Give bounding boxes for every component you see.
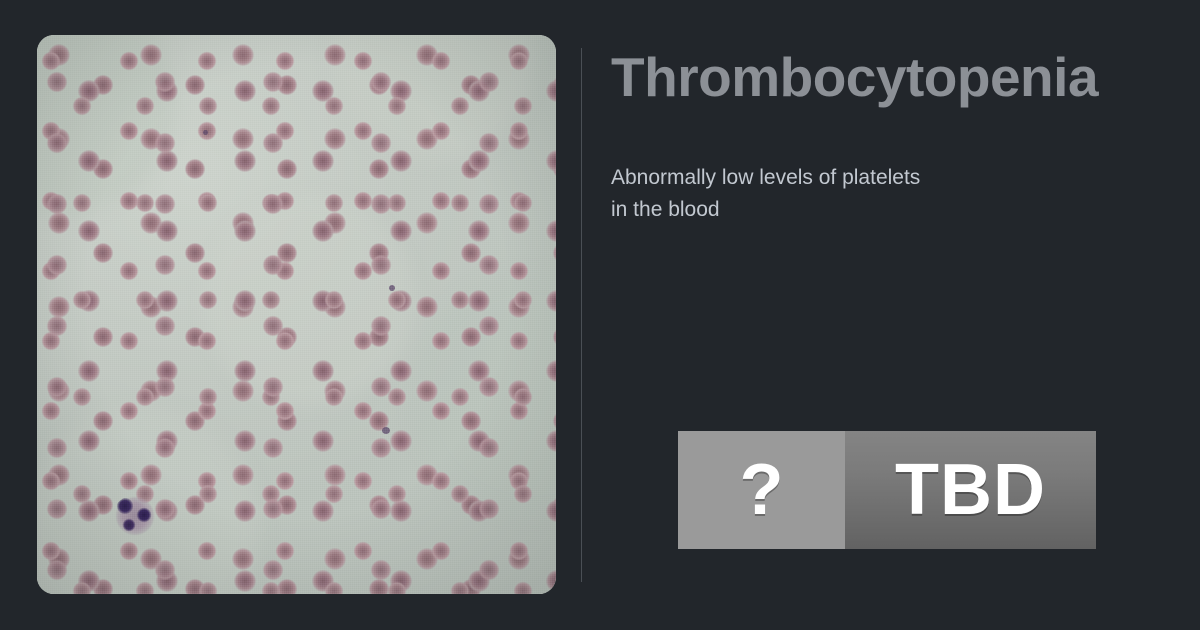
- page-subtitle: Abnormally low levels of platelets in th…: [611, 162, 941, 226]
- status-badge-value-segment: TBD: [845, 431, 1096, 549]
- status-badge-label-segment: ?: [678, 431, 845, 549]
- status-badge-value: TBD: [895, 454, 1046, 526]
- image-vignette-overlay: [37, 35, 556, 594]
- blood-smear-micrograph: [37, 35, 556, 594]
- page-title: Thrombocytopenia: [611, 47, 1200, 109]
- social-preview-card: Thrombocytopenia Abnormally low levels o…: [0, 0, 1200, 630]
- vertical-divider: [581, 48, 582, 582]
- question-mark-icon: ?: [740, 454, 784, 526]
- status-badge[interactable]: ? TBD: [678, 431, 1096, 549]
